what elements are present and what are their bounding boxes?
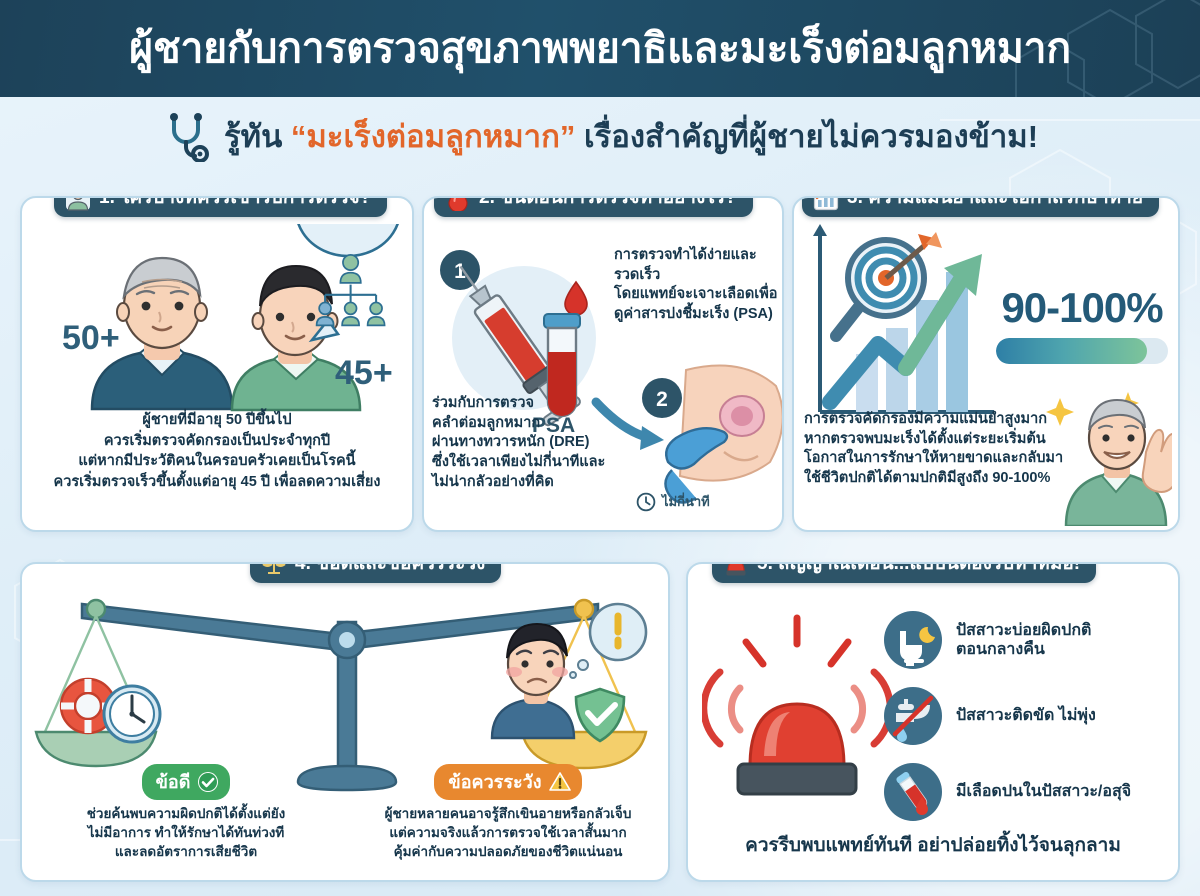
- pros-block: ข้อดี ช่วยค้นพบความผิดปกติได้ตั้งแต่ยังไ…: [30, 764, 342, 862]
- panel-warning-signs: ปัสสาวะบ่อยผิดปกติตอนกลางคืน ปัสสาวะติดข…: [686, 562, 1180, 882]
- subtitle-before: รู้ทัน: [224, 119, 291, 154]
- panel5-footer-text: ควรรีบพบแพทย์ทันที อย่าปล่อยทิ้งไว้จนลุก…: [688, 830, 1178, 860]
- age-45-label: 45+: [335, 354, 393, 392]
- cautions-pill-label: ข้อควรระวัง: [448, 767, 541, 796]
- panel5-badge: 5. สัญญาณเตือน...แบบนี้ต้องรีบหาหมอ!: [712, 562, 1096, 583]
- panel1-badge-label: 1. ใครบ้างที่ควรเข้ารับการตรวจ?: [99, 196, 371, 207]
- panel2-duration-note: ไม่กี่นาที: [636, 491, 710, 512]
- scales-icon: [261, 562, 287, 577]
- subtitle-text: รู้ทัน “มะเร็งต่อมลูกหมาก” เรื่องสำคัญที…: [224, 111, 1038, 161]
- panel2-description-2: ร่วมกับการตรวจคลำต่อมลูกหมากผ่านทางทวารห…: [432, 394, 612, 493]
- panel-pros-and-cautions: ข้อดี ช่วยค้นพบความผิดปกติได้ตั้งแต่ยังไ…: [20, 562, 670, 882]
- subtitle-row: รู้ทัน “มะเร็งต่อมลูกหมาก” เรื่องสำคัญที…: [0, 97, 1200, 175]
- cautions-pill: ข้อควรระวัง: [434, 764, 581, 800]
- panel3-badge-label: 3. ความแม่นยำและโอกาสรักษาหาย: [847, 196, 1143, 207]
- cure-rate-progress-fill: [996, 338, 1147, 364]
- blood-test-tube-icon: [884, 763, 942, 821]
- panel3-badge: 3. ความแม่นยำและโอกาสรักษาหาย: [802, 196, 1159, 217]
- stethoscope-icon: [162, 110, 214, 162]
- panel1-badge: 1. ใครบ้างที่ควรเข้ารับการตรวจ?: [54, 196, 387, 217]
- panel-accuracy-and-cure-rate: 90-100% การตรวจคัดกรองมีความแม่นยำสูงมาก…: [792, 196, 1180, 532]
- toilet-night-icon: [884, 611, 942, 669]
- panel2-badge: 2. ขั้นตอนการตรวจทำอย่างไร?: [434, 196, 753, 217]
- balance-scale-illustration: [22, 582, 670, 792]
- pros-pill: ข้อดี: [142, 764, 231, 800]
- blood-drop-icon: [445, 196, 471, 211]
- panel-screening-procedure: 1 PSA 2: [422, 196, 784, 532]
- pros-pill-label: ข้อดี: [156, 767, 191, 796]
- siren-alarm-icon: [723, 562, 749, 577]
- panel2-badge-label: 2. ขั้นตอนการตรวจทำอย่างไร?: [479, 196, 737, 207]
- clock-icon: [636, 492, 656, 512]
- pros-body-text: ช่วยค้นพบความผิดปกติได้ตั้งแต่ยังไม่มีอา…: [30, 805, 342, 862]
- panel5-badge-label: 5. สัญญาณเตือน...แบบนี้ต้องรีบหาหมอ!: [757, 562, 1080, 573]
- symptom-label: ปัสสาวะติดขัด ไม่พุ่ง: [956, 706, 1096, 725]
- age-50-label: 50+: [62, 319, 120, 357]
- panel4-badge-label: 4. ข้อดีและข้อควรระวัง: [295, 562, 485, 573]
- subtitle-after: เรื่องสำคัญที่ผู้ชายไม่ควรมองข้าม!: [575, 119, 1038, 154]
- panel4-badge: 4. ข้อดีและข้อควรระวัง: [250, 562, 501, 583]
- person-avatar-icon: [65, 196, 91, 211]
- symptom-label: มีเลือดปนในปัสสาวะ/อสุจิ: [956, 782, 1131, 801]
- cure-rate-progress-bar: [996, 338, 1168, 364]
- panel1-illustration: 50+ 45+: [22, 224, 414, 414]
- symptom-label: ปัสสาวะบ่อยผิดปกติตอนกลางคืน: [956, 621, 1091, 659]
- cautions-body-text: ผู้ชายหลายคนอาจรู้สึกเขินอายหรือกลัวเจ็บ…: [350, 805, 666, 862]
- faucet-blocked-icon: [884, 687, 942, 745]
- infographic-page: ผู้ชายกับการตรวจสุขภาพพยาธิและมะเร็งต่อม…: [0, 0, 1200, 896]
- cautions-block: ข้อควรระวัง ผู้ชายหลายคนอาจรู้สึกเขินอาย…: [350, 764, 666, 862]
- panel2-description-1: การตรวจทำได้ง่ายและรวดเร็วโดยแพทย์จะเจาะ…: [614, 246, 782, 325]
- warning-symptom-list: ปัสสาวะบ่อยผิดปกติตอนกลางคืน ปัสสาวะติดข…: [884, 602, 1180, 830]
- chart-up-icon: [813, 196, 839, 211]
- panel2-clock-label: ไม่กี่นาที: [662, 491, 710, 512]
- dre-anatomy-illustration: [665, 366, 782, 503]
- symptom-row: มีเลือดปนในปัสสาวะ/อสุจิ: [884, 754, 1180, 830]
- symptom-row: ปัสสาวะติดขัด ไม่พุ่ง: [884, 678, 1180, 754]
- warning-triangle-icon: [549, 771, 571, 793]
- svg-text:2: 2: [656, 388, 668, 411]
- check-circle-icon: [197, 771, 219, 793]
- panel-who-should-screen: 50+ 45+ ผู้ชายที่มีอายุ 50 ปีขึ้นไปควรเร…: [20, 196, 414, 532]
- panel3-body-text: การตรวจคัดกรองมีความแม่นยำสูงมากหากตรวจพ…: [804, 410, 1072, 489]
- header-band: ผู้ชายกับการตรวจสุขภาพพยาธิและมะเร็งต่อม…: [0, 0, 1200, 97]
- page-title: ผู้ชายกับการตรวจสุขภาพพยาธิและมะเร็งต่อม…: [129, 28, 1071, 69]
- cure-rate-percent: 90-100%: [990, 284, 1174, 332]
- symptom-row: ปัสสาวะบ่อยผิดปกติตอนกลางคืน: [884, 602, 1180, 678]
- subtitle-highlight: “มะเร็งต่อมลูกหมาก”: [291, 119, 575, 154]
- panel1-body-text: ผู้ชายที่มีอายุ 50 ปีขึ้นไปควรเริ่มตรวจค…: [28, 410, 406, 492]
- siren-alarm-illustration: [702, 604, 892, 814]
